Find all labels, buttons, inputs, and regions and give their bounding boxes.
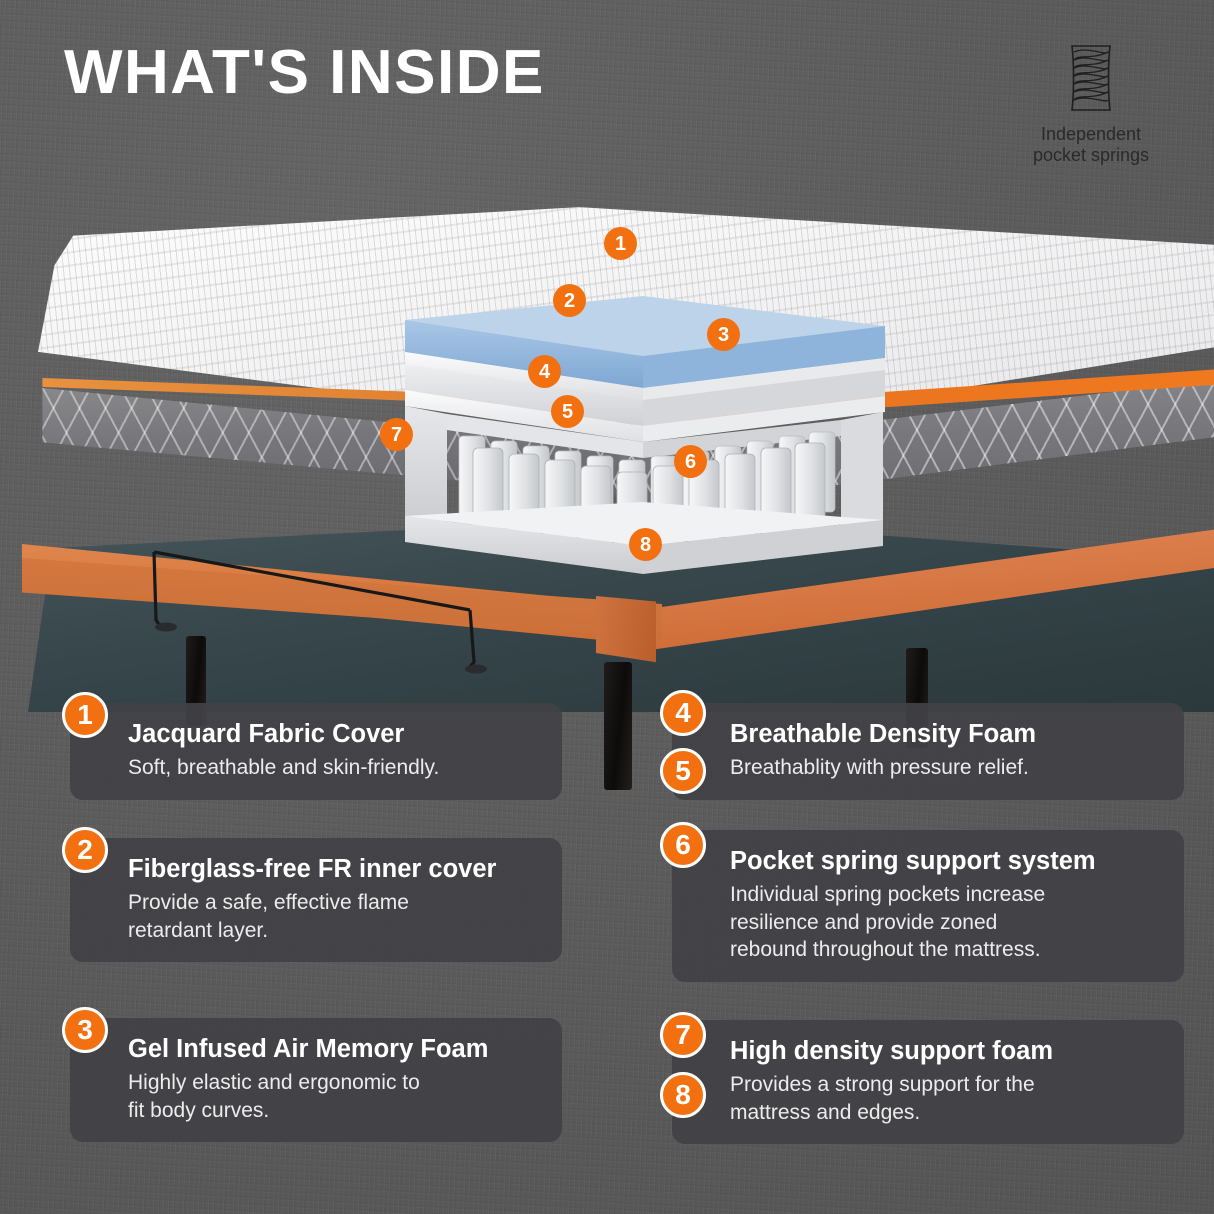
spring-badge-caption-line1: Independent (1041, 124, 1141, 144)
feature-badge-3: 3 (62, 1007, 108, 1053)
feature-desc-line: Breathablity with pressure relief. (730, 754, 1158, 782)
feature-badge-6: 6 (660, 822, 706, 868)
feature-desc-1: Soft, breathable and skin-friendly. (128, 754, 536, 782)
feature-desc-7: Provides a strong support for the mattre… (730, 1071, 1158, 1127)
callout-marker-3: 3 (707, 318, 740, 351)
independent-pocket-springs-badge: Independent pocket springs (1006, 42, 1176, 166)
callout-marker-5: 5 (551, 395, 584, 428)
feature-card-4[interactable]: Breathable Density Foam Breathablity wit… (672, 703, 1184, 800)
feature-desc-line: Highly elastic and ergonomic to (128, 1069, 536, 1097)
feature-badge-5: 5 (660, 748, 706, 794)
page-title: WHAT'S INSIDE (64, 42, 545, 104)
callout-marker-8: 8 (629, 528, 662, 561)
feature-desc-line: Provide a safe, effective flame (128, 889, 536, 917)
feature-title-1: Jacquard Fabric Cover (128, 719, 536, 750)
callout-marker-1: 1 (604, 227, 637, 260)
feature-title-6: Pocket spring support system (730, 846, 1158, 877)
feature-card-2[interactable]: Fiberglass-free FR inner cover Provide a… (70, 838, 562, 962)
feature-title-3: Gel Infused Air Memory Foam (128, 1034, 536, 1065)
feature-desc-6: Individual spring pockets increase resil… (730, 881, 1158, 965)
feature-desc-line: resilience and provide zoned (730, 909, 1158, 937)
callout-marker-4: 4 (528, 355, 561, 388)
pocket-spring-icon (1062, 42, 1120, 114)
feature-badge-7: 7 (660, 1012, 706, 1058)
bed-leg (604, 662, 632, 790)
feature-desc-line: mattress and edges. (730, 1099, 1158, 1127)
feature-desc-line: rebound throughout the mattress. (730, 936, 1158, 964)
feature-desc-line: retardant layer. (128, 917, 536, 945)
feature-badge-8: 8 (660, 1072, 706, 1118)
feature-desc-line: Individual spring pockets increase (730, 881, 1158, 909)
callout-marker-7: 7 (380, 418, 413, 451)
feature-card-6[interactable]: Pocket spring support system Individual … (672, 830, 1184, 982)
feature-desc-3: Highly elastic and ergonomic to fit body… (128, 1069, 536, 1125)
feature-card-7[interactable]: High density support foam Provides a str… (672, 1020, 1184, 1144)
feature-desc-2: Provide a safe, effective flame retardan… (128, 889, 536, 945)
feature-desc-4: Breathablity with pressure relief. (730, 754, 1158, 782)
spring-badge-caption: Independent pocket springs (1033, 124, 1149, 166)
feature-badge-1: 1 (62, 692, 108, 738)
feature-desc-line: Soft, breathable and skin-friendly. (128, 754, 536, 782)
callout-marker-6: 6 (674, 445, 707, 478)
feature-badge-4: 4 (660, 690, 706, 736)
feature-title-2: Fiberglass-free FR inner cover (128, 854, 536, 885)
feature-title-7: High density support foam (730, 1036, 1158, 1067)
feature-card-1[interactable]: Jacquard Fabric Cover Soft, breathable a… (70, 703, 562, 800)
feature-title-4: Breathable Density Foam (730, 719, 1158, 750)
feature-desc-line: fit body curves. (128, 1097, 536, 1125)
spring-badge-caption-line2: pocket springs (1033, 145, 1149, 165)
feature-badge-2: 2 (62, 827, 108, 873)
feature-card-3[interactable]: Gel Infused Air Memory Foam Highly elast… (70, 1018, 562, 1142)
feature-desc-line: Provides a strong support for the (730, 1071, 1158, 1099)
callout-marker-2: 2 (553, 284, 586, 317)
